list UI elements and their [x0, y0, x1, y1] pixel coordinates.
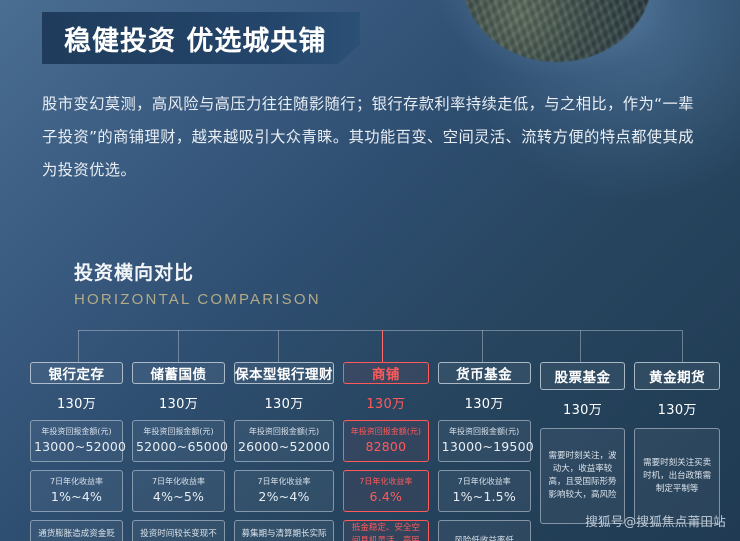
rate-label: 7日年化收益率 [136, 476, 221, 487]
rate-label: 7日年化收益率 [347, 476, 425, 487]
section-title-cn: 投资横向对比 [74, 258, 321, 285]
page-title: 稳健投资 优选城央铺 [64, 19, 326, 58]
return-cell: 年投资回报金额(元) 13000~52000 [30, 420, 123, 462]
rate-label: 7日年化收益率 [34, 476, 119, 487]
connector-tick [580, 330, 581, 362]
rate-value: 1%~4% [34, 488, 119, 505]
return-value: 13000~19500 [442, 438, 527, 455]
product-name: 保本型银行理财 [234, 362, 334, 384]
watermark: 搜狐号@搜狐焦点莆田站 [585, 511, 726, 530]
product-price: 130万 [563, 399, 602, 418]
return-cell: 年投资回报金额(元) 13000~19500 [438, 420, 531, 462]
return-label: 年投资回报金额(元) [136, 426, 221, 437]
comparison-column: 储蓄国债 130万 年投资回报金额(元) 52000~65000 7日年化收益率… [132, 362, 225, 527]
comparison-column: 银行定存 130万 年投资回报金额(元) 13000~52000 7日年化收益率… [30, 362, 123, 527]
product-price: 130万 [658, 399, 697, 418]
connector-tick [78, 330, 79, 362]
connector-tick [178, 330, 179, 362]
note-cell: 投资时间较长变现不灵活 [132, 520, 225, 541]
product-name: 黄金期货 [634, 362, 720, 390]
note-text: 投资时间较长变现不灵活 [139, 528, 218, 541]
rate-value: 2%~4% [238, 488, 330, 505]
note-text: 风险低收益率低 [454, 535, 514, 541]
product-name: 储蓄国债 [132, 362, 225, 384]
rate-label: 7日年化收益率 [442, 476, 527, 487]
product-price: 130万 [264, 393, 303, 412]
comparison-column: 保本型银行理财 130万 年投资回报金额(元) 26000~52000 7日年化… [234, 362, 334, 527]
connector-tick [278, 330, 279, 362]
return-label: 年投资回报金额(元) [34, 426, 119, 437]
comparison-column-highlight: 商铺 130万 年投资回报金额(元) 82800 7日年化收益率 6.4% 抵金… [343, 362, 429, 527]
note-text: 需要时刻关注，波动大，收益率较高，且受国际形势影响较大，高风险 [547, 450, 619, 502]
note-text: 需要时刻关注买卖时机，出台政策需制定平制等 [641, 457, 713, 496]
product-price: 130万 [465, 393, 504, 412]
product-price: 130万 [57, 393, 96, 412]
connector-tick-highlight [382, 330, 383, 362]
product-name: 商铺 [343, 362, 429, 384]
product-name: 股票基金 [540, 362, 626, 390]
note-cell: 需要时刻关注，波动大，收益率较高，且受国际形势影响较大，高风险 [540, 428, 626, 524]
page-root: 稳健投资 优选城央铺 股市变幻莫测，高风险与高压力往往随影随行；银行存款利率持续… [0, 0, 740, 541]
return-value: 82800 [347, 438, 425, 455]
product-price: 130万 [366, 393, 405, 412]
rate-cell: 7日年化收益率 1%~1.5% [438, 470, 531, 512]
note-cell: 风险低收益率低 [438, 520, 531, 541]
note-cell: 抵金稳定、安全空间具机灵活、高民通新能力 [343, 520, 429, 541]
product-price: 130万 [159, 393, 198, 412]
note-text: 募集期与清算期长实际收益偏低 [241, 528, 327, 541]
connector-tick [682, 330, 683, 362]
rate-cell: 7日年化收益率 6.4% [343, 470, 429, 512]
note-text: 通货膨胀造成资金贬值加速 [37, 528, 116, 541]
product-name: 货币基金 [438, 362, 531, 384]
header-banner: 稳健投资 优选城央铺 [42, 12, 360, 64]
comparison-column: 股票基金 130万 需要时刻关注，波动大，收益率较高，且受国际形势影响较大，高风… [540, 362, 626, 527]
intro-paragraph: 股市变幻莫测，高风险与高压力往往随影随行；银行存款利率持续走低，与之相比，作为“… [42, 88, 698, 187]
rate-label: 7日年化收益率 [238, 476, 330, 487]
product-name: 银行定存 [30, 362, 123, 384]
connector-tick [482, 330, 483, 362]
return-cell: 年投资回报金额(元) 52000~65000 [132, 420, 225, 462]
return-cell: 年投资回报金额(元) 26000~52000 [234, 420, 334, 462]
rate-cell: 7日年化收益率 4%~5% [132, 470, 225, 512]
comparison-column: 货币基金 130万 年投资回报金额(元) 13000~19500 7日年化收益率… [438, 362, 531, 527]
comparison-column: 黄金期货 130万 需要时刻关注买卖时机，出台政策需制定平制等 [634, 362, 720, 527]
return-value: 13000~52000 [34, 438, 119, 455]
rate-cell: 7日年化收益率 1%~4% [30, 470, 123, 512]
note-cell: 募集期与清算期长实际收益偏低 [234, 520, 334, 541]
rate-value: 6.4% [347, 488, 425, 505]
comparison-table: 银行定存 130万 年投资回报金额(元) 13000~52000 7日年化收益率… [30, 362, 720, 527]
section-title-en: HORIZONTAL COMPARISON [74, 291, 321, 308]
return-cell: 年投资回报金额(元) 82800 [343, 420, 429, 462]
return-label: 年投资回报金额(元) [442, 426, 527, 437]
return-label: 年投资回报金额(元) [347, 426, 425, 437]
note-cell: 需要时刻关注买卖时机，出台政策需制定平制等 [634, 428, 720, 524]
rate-value: 1%~1.5% [442, 488, 527, 505]
note-text: 抵金稳定、安全空间具机灵活、高民通新能力 [350, 522, 422, 541]
section-heading: 投资横向对比 HORIZONTAL COMPARISON [74, 258, 321, 308]
return-value: 26000~52000 [238, 438, 330, 455]
rate-value: 4%~5% [136, 488, 221, 505]
rate-cell: 7日年化收益率 2%~4% [234, 470, 334, 512]
return-value: 52000~65000 [136, 438, 221, 455]
aerial-photo-image [462, 0, 652, 62]
return-label: 年投资回报金额(元) [238, 426, 330, 437]
note-cell: 通货膨胀造成资金贬值加速 [30, 520, 123, 541]
connector-rail [78, 330, 682, 331]
